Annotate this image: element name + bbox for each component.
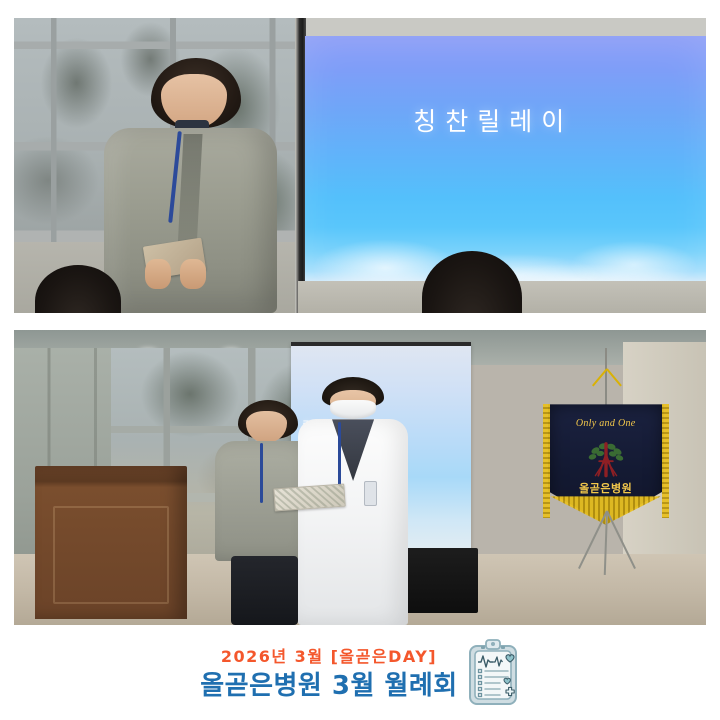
pennant-fringe-left xyxy=(543,404,550,517)
pennant-cord-left xyxy=(592,368,608,386)
presenter-hand-left xyxy=(145,259,171,289)
wooden-lectern xyxy=(35,466,187,619)
tripod-leg-c xyxy=(603,510,607,574)
caption-text: 2026년 3월 [올곧은DAY] 올곧은병원 3월 월례회 xyxy=(200,645,457,702)
pennant-cord xyxy=(543,369,669,408)
face-mask-icon xyxy=(330,400,377,420)
presenter-hand-right xyxy=(180,259,206,289)
caption-block: 2026년 3월 [올곧은DAY] 올곧은병원 3월 월례회 xyxy=(0,634,720,714)
pennant-fringe-right xyxy=(662,404,669,517)
slide-title-praise-relay: 칭찬릴레이 xyxy=(305,102,682,138)
recipient-pants xyxy=(231,556,297,625)
projection-screen-top: 칭찬릴레이 xyxy=(305,36,706,281)
recipient-face xyxy=(246,411,288,443)
doctor-coat xyxy=(298,419,409,625)
tree-logo xyxy=(579,440,632,479)
caption-title: 올곧은병원 3월 월례회 xyxy=(200,670,457,703)
photo-top-praise-relay: 칭찬릴레이 xyxy=(14,18,706,313)
photo-bottom-award-handover: 찬 릴레이 Only and One xyxy=(14,330,706,625)
tripod-stand xyxy=(560,511,652,575)
hospital-pennant: Only and One xyxy=(540,365,671,542)
medical-clipboard-icon xyxy=(466,638,520,713)
caption-subtitle: 2026년 3월 [올곧은DAY] xyxy=(200,645,457,670)
tripod-leg-a xyxy=(578,510,608,568)
pennant-tagline: Only and One xyxy=(548,418,664,429)
pennant-cord-right xyxy=(606,368,622,386)
tripod-leg-b xyxy=(606,510,636,568)
doctor-id-badge xyxy=(364,481,377,505)
recipient-lanyard xyxy=(260,443,263,503)
presenter-grey-jacket xyxy=(104,42,277,313)
pennant-hospital-name: 올곧은병원 xyxy=(548,480,664,496)
